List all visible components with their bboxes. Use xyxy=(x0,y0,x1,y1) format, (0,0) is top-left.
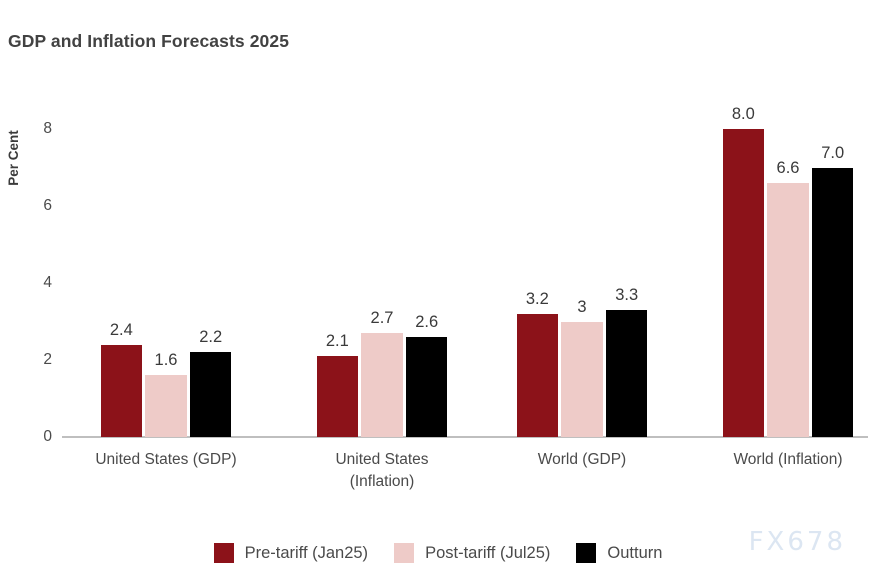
watermark: FX678 xyxy=(749,527,846,557)
bar-value-label: 2.4 xyxy=(110,321,133,340)
bar-value-label: 7.0 xyxy=(821,144,844,163)
bar-value-label: 2.1 xyxy=(326,332,349,351)
y-axis-ticks: 02468 xyxy=(10,100,52,437)
y-tick-label: 2 xyxy=(18,351,52,369)
legend-swatch-icon xyxy=(394,543,414,563)
plot-area: 2.41.62.22.12.72.63.233.38.06.67.0 xyxy=(62,100,862,437)
y-tick-label: 4 xyxy=(18,274,52,292)
bar-value-label: 2.6 xyxy=(415,313,438,332)
bar[interactable] xyxy=(101,345,143,437)
bar-value-label: 2.7 xyxy=(371,309,394,328)
bar-value-label: 3 xyxy=(577,298,586,317)
bar[interactable] xyxy=(561,322,603,437)
legend-item[interactable]: Pre-tariff (Jan25) xyxy=(214,543,369,563)
bar-value-label: 2.2 xyxy=(199,328,222,347)
legend-item[interactable]: Post-tariff (Jul25) xyxy=(394,543,550,563)
bar[interactable] xyxy=(145,375,187,437)
bar[interactable] xyxy=(812,168,854,437)
bar[interactable] xyxy=(606,310,648,437)
bar[interactable] xyxy=(517,314,559,437)
legend-item[interactable]: Outturn xyxy=(576,543,662,563)
bar-value-label: 1.6 xyxy=(155,351,178,370)
x-axis-label: United States (GDP) xyxy=(66,449,266,471)
bar[interactable] xyxy=(406,337,448,437)
x-axis-label: World (GDP) xyxy=(482,449,682,471)
legend-label: Outturn xyxy=(607,544,662,563)
y-tick-label: 6 xyxy=(18,197,52,215)
bar-value-label: 3.3 xyxy=(615,286,638,305)
bar[interactable] xyxy=(361,333,403,437)
legend-label: Post-tariff (Jul25) xyxy=(425,544,550,563)
legend-label: Pre-tariff (Jan25) xyxy=(245,544,369,563)
chart-legend: Pre-tariff (Jan25)Post-tariff (Jul25)Out… xyxy=(0,543,876,563)
chart-title: GDP and Inflation Forecasts 2025 xyxy=(8,31,289,52)
y-tick-label: 8 xyxy=(18,120,52,138)
legend-swatch-icon xyxy=(576,543,596,563)
y-tick-label: 0 xyxy=(18,428,52,446)
bar[interactable] xyxy=(317,356,359,437)
bar[interactable] xyxy=(767,183,809,437)
bar-value-label: 8.0 xyxy=(732,105,755,124)
x-axis-label: World (Inflation) xyxy=(688,449,876,471)
bar-value-label: 6.6 xyxy=(777,159,800,178)
bar-value-label: 3.2 xyxy=(526,290,549,309)
x-axis-label: United States(Inflation) xyxy=(282,449,482,493)
bar[interactable] xyxy=(723,129,765,437)
legend-swatch-icon xyxy=(214,543,234,563)
bar[interactable] xyxy=(190,352,232,437)
